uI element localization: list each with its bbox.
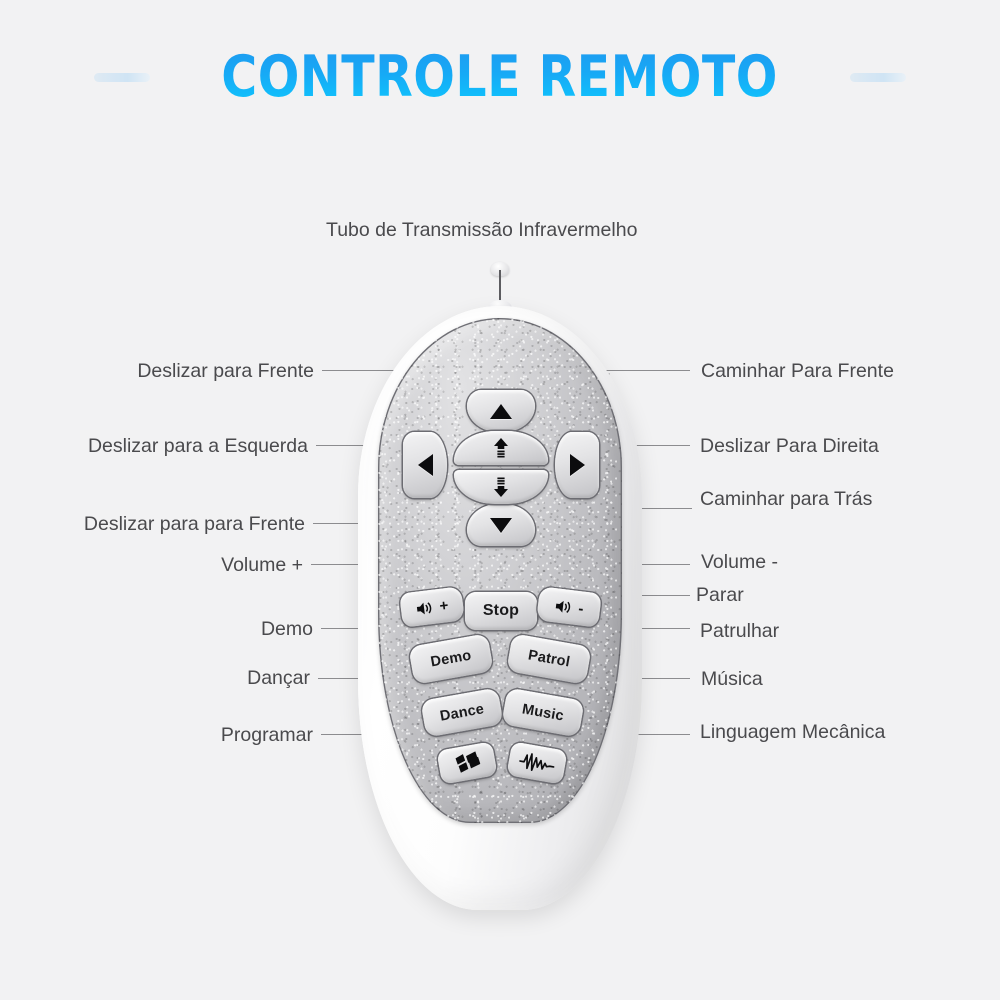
waveform-icon — [518, 750, 557, 776]
page-header: CONTROLE REMOTO — [0, 44, 1000, 110]
walk-forward-arrow-icon — [491, 437, 511, 459]
callout-label-walk-forward: Caminhar Para Frente — [701, 362, 894, 382]
callout-label-ir-tube: Tubo de Transmissão Infravermelho — [326, 221, 637, 241]
callout-label-slide-left: Deslizar para a Esquerda — [88, 437, 308, 457]
callout-label-mech-language: Linguagem Mecânica — [700, 723, 885, 743]
dpad-right-button[interactable] — [555, 432, 599, 498]
triangle-up-icon — [490, 404, 512, 419]
dpad-left-button[interactable] — [403, 432, 447, 498]
dpad-down-button[interactable] — [467, 504, 535, 546]
demo-button-label: Demo — [429, 648, 472, 671]
page-title: CONTROLE REMOTO — [222, 49, 779, 106]
patrol-button[interactable]: Patrol — [506, 633, 591, 684]
callout-label-dance: Dançar — [247, 669, 310, 689]
callout-label-program: Programar — [221, 726, 313, 746]
remote-faceplate: + Stop - Demo Patrol D — [378, 318, 622, 823]
triangle-right-icon — [570, 454, 585, 476]
music-button-label: Music — [521, 701, 565, 724]
speaker-icon — [415, 599, 435, 616]
demo-button[interactable]: Demo — [408, 633, 493, 684]
callout-label-slide-right: Deslizar Para Direita — [700, 437, 879, 457]
triangle-down-icon — [490, 518, 512, 533]
callout-label-demo: Demo — [261, 620, 313, 640]
callout-label-slide-backward: Deslizar para para Frente — [84, 515, 305, 535]
volume-up-sign: + — [439, 597, 450, 615]
title-dash-right — [850, 73, 906, 82]
music-button[interactable]: Music — [501, 688, 584, 738]
volume-down-button[interactable]: - — [536, 586, 602, 627]
volume-down-sign: - — [577, 600, 584, 617]
dance-button[interactable]: Dance — [420, 688, 503, 738]
speaker-icon — [554, 598, 574, 615]
callout-label-walk-backward: Caminhar para Trás — [700, 490, 872, 510]
dpad-up-button[interactable] — [467, 390, 535, 432]
mech-language-button[interactable] — [506, 741, 567, 784]
callout-label-patrol: Patrulhar — [700, 622, 779, 642]
program-button[interactable] — [436, 741, 497, 784]
title-dash-left — [94, 73, 150, 82]
walk-forward-button[interactable] — [454, 431, 548, 465]
callout-label-slide-forward: Deslizar para Frente — [137, 362, 314, 382]
dance-button-label: Dance — [439, 701, 486, 724]
triangle-left-icon — [418, 454, 433, 476]
patrol-button-label: Patrol — [527, 647, 571, 670]
remote-control: + Stop - Demo Patrol D — [330, 262, 670, 912]
callout-label-volume-up: Volume + — [221, 556, 303, 576]
callout-label-music: Música — [701, 670, 763, 690]
stop-button[interactable]: Stop — [465, 592, 537, 630]
callout-label-stop: Parar — [696, 586, 744, 606]
callout-label-volume-down: Volume - — [701, 553, 778, 573]
walk-backward-arrow-icon — [491, 476, 511, 498]
windows-flag-icon — [452, 750, 481, 776]
stop-button-label: Stop — [483, 602, 519, 620]
walk-backward-button[interactable] — [454, 470, 548, 504]
volume-up-button[interactable]: + — [399, 586, 465, 627]
